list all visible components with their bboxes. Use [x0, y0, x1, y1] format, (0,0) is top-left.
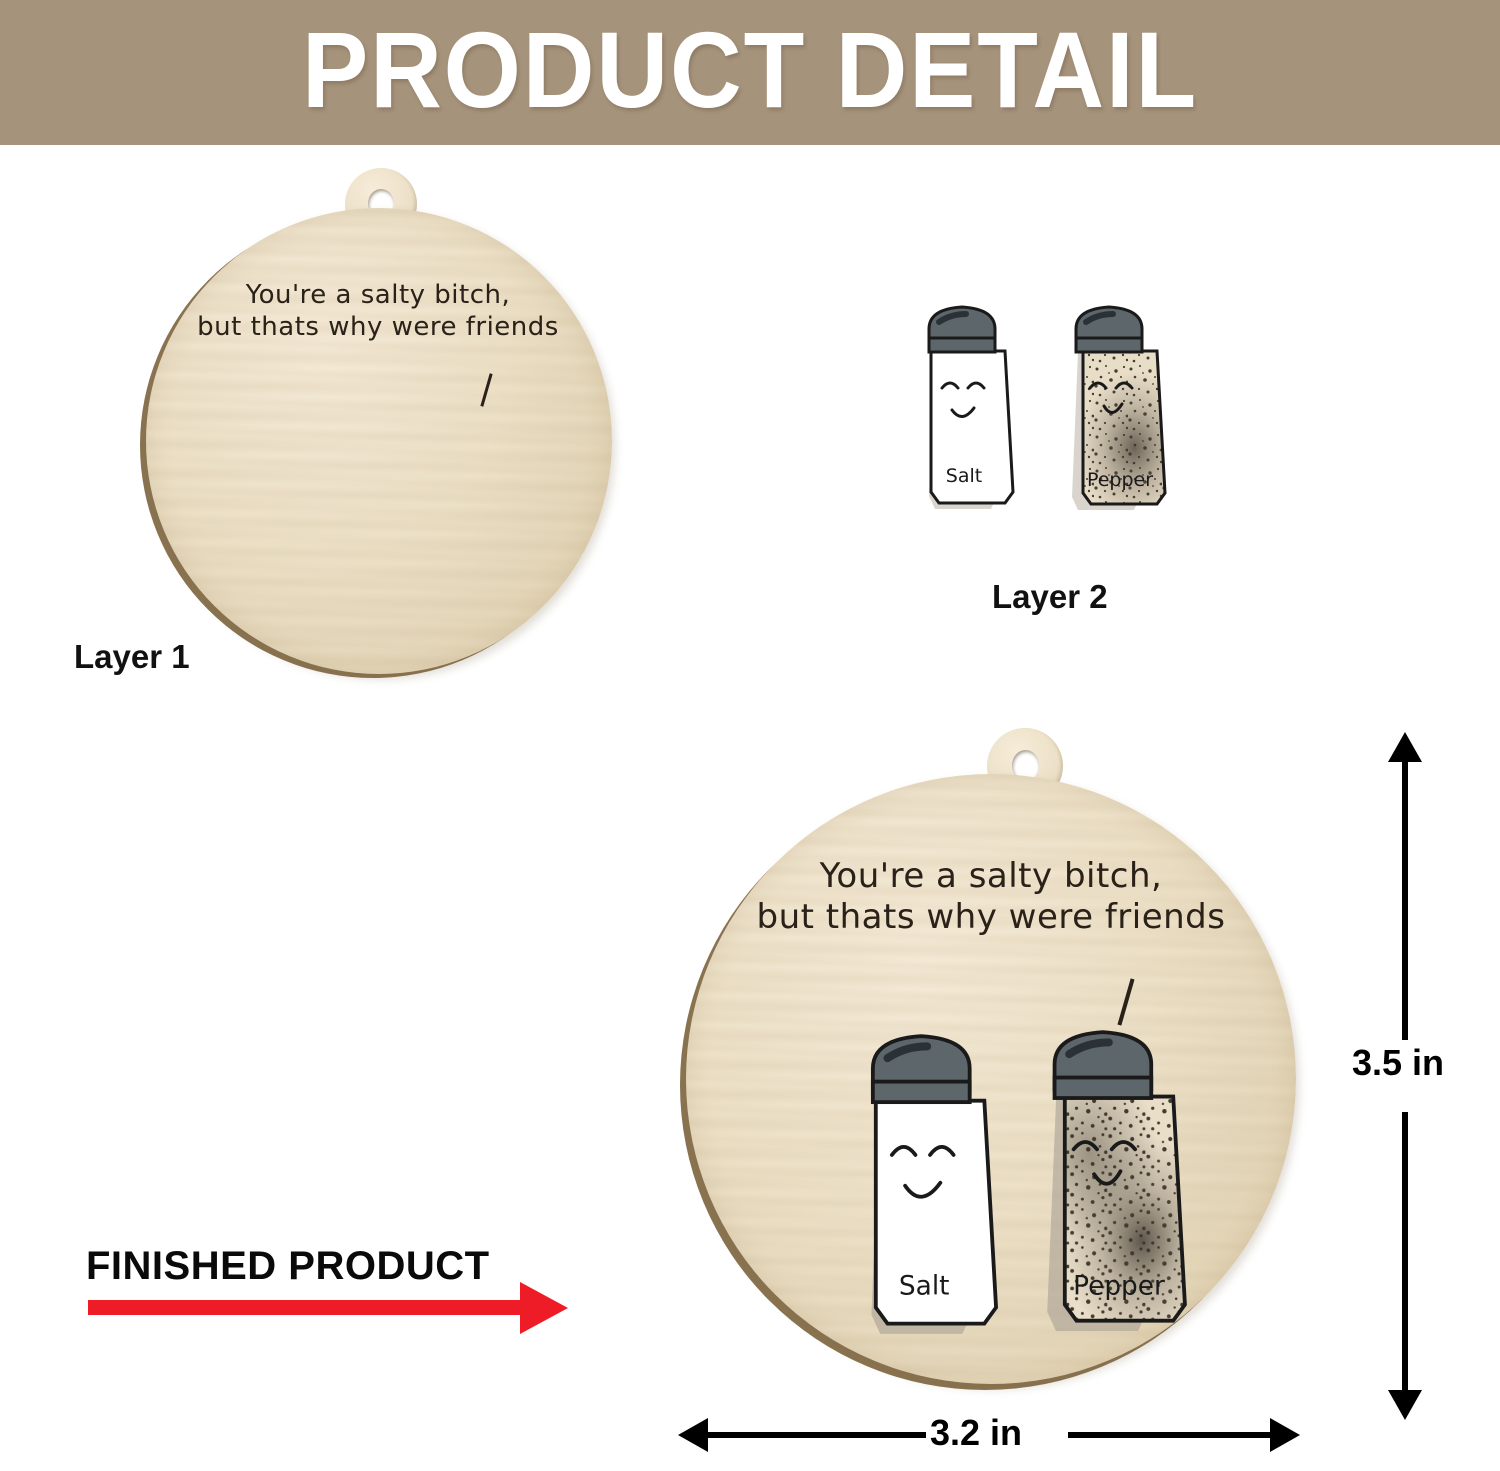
pepper-label: Pepper — [1087, 469, 1153, 491]
salt-cap-band — [873, 1082, 970, 1103]
layer2-pepper-shaker: Pepper — [1060, 296, 1195, 524]
salt-label: Salt — [899, 1270, 950, 1301]
finished-product-arrow-shaft — [88, 1300, 540, 1315]
height-arrow-shaft-top — [1402, 760, 1408, 1040]
quote-line-1: You're a salty bitch, — [148, 280, 608, 312]
finished-salt-shaker: Salt — [840, 1020, 1026, 1350]
quote-line-1: You're a salty bitch, — [688, 856, 1294, 897]
layer1-disc-face — [146, 208, 612, 674]
page-title: PRODUCT DETAIL — [60, 0, 1440, 145]
finished-quote: You're a salty bitch, but thats why were… — [688, 856, 1294, 939]
width-dimension-label: 3.2 in — [930, 1412, 1022, 1454]
finished-product-disc: You're a salty bitch, but thats why were… — [680, 728, 1300, 1418]
pepper-label: Pepper — [1073, 1271, 1165, 1301]
height-arrow-head-top — [1388, 732, 1422, 762]
height-arrow-shaft-bottom — [1402, 1112, 1408, 1392]
finished-product-arrow-head — [520, 1282, 568, 1334]
layer2-salt-shaker: Salt — [910, 296, 1030, 521]
width-arrow-head-left — [678, 1418, 708, 1452]
quote-line-2: but thats why were friends — [688, 897, 1294, 938]
pepper-cap-band — [1055, 1078, 1152, 1099]
header-banner: PRODUCT DETAIL — [0, 0, 1500, 145]
salt-label: Salt — [946, 465, 982, 487]
finished-product-label: FINISHED PRODUCT — [86, 1244, 490, 1289]
salt-cap-band — [929, 338, 995, 352]
layer2-label: Layer 2 — [992, 578, 1108, 616]
height-arrow-head-bottom — [1388, 1390, 1422, 1420]
pepper-cap-band — [1076, 338, 1142, 352]
quote-line-2: but thats why were friends — [148, 312, 608, 344]
layer1-disc: You're a salty bitch, but thats why were… — [140, 168, 630, 688]
height-dimension-label: 3.5 in — [1352, 1042, 1444, 1084]
width-arrow-head-right — [1270, 1418, 1300, 1452]
layer1-quote: You're a salty bitch, but thats why were… — [148, 280, 608, 343]
width-arrow-shaft-left — [706, 1432, 926, 1438]
width-arrow-shaft-right — [1068, 1432, 1272, 1438]
layer1-label: Layer 1 — [74, 638, 190, 676]
finished-pepper-shaker: Pepper — [1030, 1016, 1230, 1350]
